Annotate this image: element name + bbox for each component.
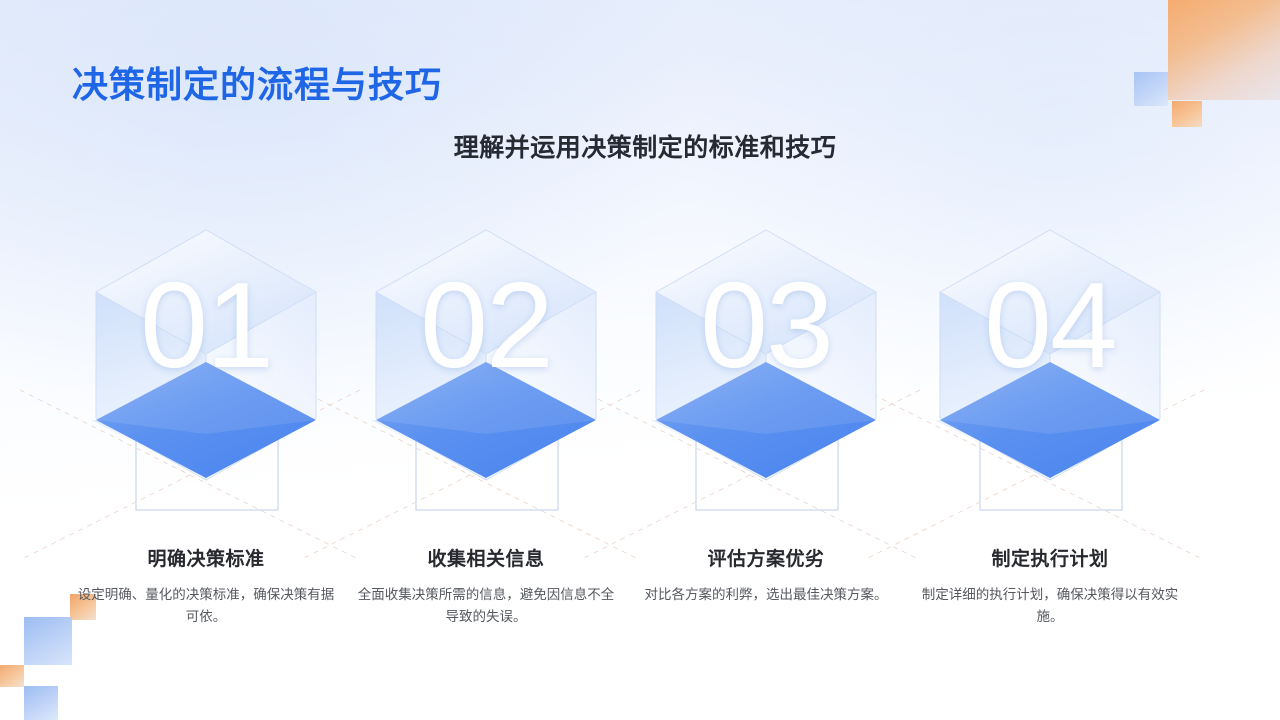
page-title: 决策制定的流程与技巧: [72, 56, 442, 108]
step-title: 评估方案优劣: [626, 544, 906, 571]
step-description: 设定明确、量化的决策标准，确保决策有据可依。: [66, 584, 346, 629]
step-label: 制定执行计划 制定详细的执行计划，确保决策得以有效实施。: [910, 544, 1190, 629]
page-subtitle: 理解并运用决策制定的标准和技巧: [0, 128, 1280, 164]
step-description: 全面收集决策所需的信息，避免因信息不全导致的失误。: [346, 584, 626, 629]
step-number: 02: [361, 264, 611, 386]
decor-square-orange-bottom-left: [0, 665, 24, 687]
step-number: 01: [81, 264, 331, 386]
decor-square-blue-top-right: [1134, 72, 1168, 106]
cube-graphic: 03: [641, 222, 891, 522]
step-list: 01 明确决策标准 设定明确、量化的决策标准，确保决策有据可依。: [0, 222, 1280, 652]
step-description: 对比各方案的利弊，选出最佳决策方案。: [626, 584, 906, 606]
step-item[interactable]: 01 明确决策标准 设定明确、量化的决策标准，确保决策有据可依。: [66, 222, 346, 652]
decor-square-orange-small-top: [1172, 101, 1202, 127]
slide-canvas: 01 明确决策标准 设定明确、量化的决策标准，确保决策有据可依。: [0, 0, 1280, 720]
step-label: 明确决策标准 设定明确、量化的决策标准，确保决策有据可依。: [66, 544, 346, 629]
cube-graphic: 02: [361, 222, 611, 522]
step-item[interactable]: 02 收集相关信息 全面收集决策所需的信息，避免因信息不全导致的失误。: [346, 222, 626, 652]
step-number: 03: [641, 264, 891, 386]
step-label: 评估方案优劣 对比各方案的利弊，选出最佳决策方案。: [626, 544, 906, 606]
step-item[interactable]: 03 评估方案优劣 对比各方案的利弊，选出最佳决策方案。: [626, 222, 906, 652]
cube-graphic: 04: [925, 222, 1175, 522]
step-title: 收集相关信息: [346, 544, 626, 571]
step-description: 制定详细的执行计划，确保决策得以有效实施。: [910, 584, 1190, 629]
cube-graphic: 01: [81, 222, 331, 522]
step-title: 制定执行计划: [910, 544, 1190, 571]
step-label: 收集相关信息 全面收集决策所需的信息，避免因信息不全导致的失误。: [346, 544, 626, 629]
decor-square-orange-top-right: [1168, 0, 1280, 100]
step-item[interactable]: 04 制定执行计划 制定详细的执行计划，确保决策得以有效实施。: [910, 222, 1190, 652]
step-title: 明确决策标准: [66, 544, 346, 571]
decor-square-blue-bottom-small: [24, 686, 58, 720]
step-number: 04: [925, 264, 1175, 386]
